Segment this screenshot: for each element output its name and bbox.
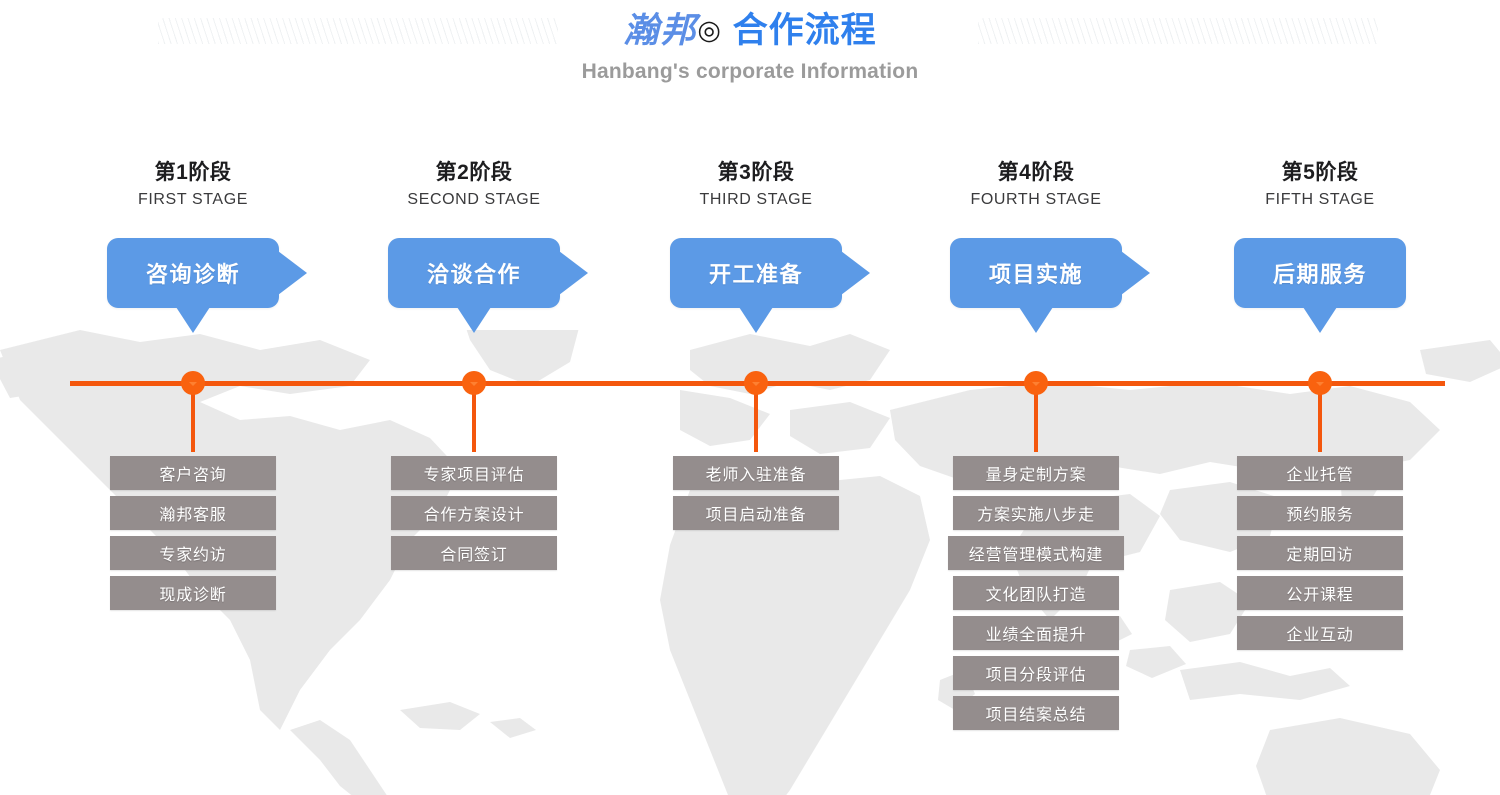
pointer-down-icon [176, 307, 210, 333]
node-inner-icon [1316, 382, 1324, 386]
node-inner-icon [752, 382, 760, 386]
stage-title-cn: 第5阶段 [1170, 160, 1470, 186]
stage-title-cn: 第4阶段 [886, 160, 1186, 186]
list-item-label: 合作方案设计 [424, 501, 525, 525]
list-item[interactable]: 预约服务 [1237, 496, 1403, 530]
list-item[interactable]: 经营管理模式构建 [948, 536, 1124, 570]
page-title-text: 合作流程 [733, 11, 877, 50]
node-inner-icon [470, 382, 478, 386]
stage-title-cn: 第3阶段 [606, 160, 906, 186]
list-item[interactable]: 专家项目评估 [391, 456, 557, 490]
stage-header-4: 第4阶段FOURTH STAGE [886, 160, 1186, 212]
stage-columns: 第1阶段FIRST STAGE咨询诊断客户咨询瀚邦客服专家约访现成诊断第2阶段S… [0, 0, 1500, 795]
arrow-right-icon [278, 251, 307, 295]
list-item-label: 预约服务 [1286, 501, 1353, 525]
timeline-node-3[interactable] [744, 371, 768, 395]
list-item[interactable]: 专家约访 [110, 536, 276, 570]
timeline-node-1[interactable] [181, 371, 205, 395]
pointer-down-icon [1019, 307, 1053, 333]
stage-title-en: FIRST STAGE [43, 188, 343, 212]
list-item-label: 文化团队打造 [986, 581, 1087, 605]
list-item-label: 业绩全面提升 [986, 621, 1087, 645]
stage-badge-label: 开工准备 [709, 257, 803, 289]
list-item[interactable]: 业绩全面提升 [953, 616, 1119, 650]
list-item-label: 现成诊断 [159, 581, 226, 605]
list-item[interactable]: 定期回访 [1237, 536, 1403, 570]
list-item-label: 老师入驻准备 [706, 461, 807, 485]
stage-item-list-2: 专家项目评估合作方案设计合同签订 [324, 456, 624, 576]
list-item[interactable]: 量身定制方案 [953, 456, 1119, 490]
stage-badge-wrap-5: 后期服务 [1170, 238, 1470, 308]
stage-item-list-3: 老师入驻准备项目启动准备 [606, 456, 906, 536]
stage-title-en: THIRD STAGE [606, 188, 906, 212]
list-item-label: 项目分段评估 [986, 661, 1087, 685]
list-item-label: 项目结案总结 [986, 701, 1087, 725]
brand-name: 瀚邦 [623, 10, 697, 51]
stage-badge-1[interactable]: 咨询诊断 [107, 238, 279, 308]
stage-badge-label: 咨询诊断 [146, 257, 240, 289]
list-item[interactable]: 合作方案设计 [391, 496, 557, 530]
timeline-node-2[interactable] [462, 371, 486, 395]
stage-header-5: 第5阶段FIFTH STAGE [1170, 160, 1470, 212]
page-header: 瀚邦◎ 合作流程 Hanbang's corporate Information [0, 0, 1500, 110]
stage-badge-label: 后期服务 [1273, 257, 1367, 289]
list-item[interactable]: 项目结案总结 [953, 696, 1119, 730]
page-subtitle: Hanbang's corporate Information [0, 60, 1500, 84]
stage-badge-4[interactable]: 项目实施 [950, 238, 1122, 308]
list-item-label: 企业互动 [1286, 621, 1353, 645]
list-item[interactable]: 企业互动 [1237, 616, 1403, 650]
stage-header-1: 第1阶段FIRST STAGE [43, 160, 343, 212]
stage-title-cn: 第2阶段 [324, 160, 624, 186]
arrow-right-icon [841, 251, 870, 295]
pointer-down-icon [457, 307, 491, 333]
list-item[interactable]: 项目分段评估 [953, 656, 1119, 690]
stage-badge-2[interactable]: 洽谈合作 [388, 238, 560, 308]
list-item[interactable]: 方案实施八步走 [953, 496, 1119, 530]
list-item[interactable]: 公开课程 [1237, 576, 1403, 610]
stage-title-en: FIFTH STAGE [1170, 188, 1470, 212]
stage-item-list-5: 企业托管预约服务定期回访公开课程企业互动 [1170, 456, 1470, 656]
page-title: 瀚邦◎ 合作流程 [0, 8, 1500, 53]
stage-badge-3[interactable]: 开工准备 [670, 238, 842, 308]
stage-badge-wrap-1: 咨询诊断 [43, 238, 343, 308]
arrow-right-icon [559, 251, 588, 295]
list-item-label: 方案实施八步走 [977, 501, 1095, 525]
list-item-label: 企业托管 [1286, 461, 1353, 485]
stage-badge-5[interactable]: 后期服务 [1234, 238, 1406, 308]
list-item[interactable]: 企业托管 [1237, 456, 1403, 490]
stage-title-cn: 第1阶段 [43, 160, 343, 186]
list-item[interactable]: 老师入驻准备 [673, 456, 839, 490]
registered-mark-icon: ◎ [697, 15, 722, 45]
stage-header-2: 第2阶段SECOND STAGE [324, 160, 624, 212]
list-item-label: 专家项目评估 [424, 461, 525, 485]
node-inner-icon [189, 382, 197, 386]
list-item-label: 瀚邦客服 [159, 501, 226, 525]
timeline-node-4[interactable] [1024, 371, 1048, 395]
pointer-down-icon [1303, 307, 1337, 333]
list-item-label: 客户咨询 [159, 461, 226, 485]
pointer-down-icon [739, 307, 773, 333]
list-item-label: 公开课程 [1286, 581, 1353, 605]
stage-badge-wrap-3: 开工准备 [606, 238, 906, 308]
list-item-label: 量身定制方案 [986, 461, 1087, 485]
list-item[interactable]: 瀚邦客服 [110, 496, 276, 530]
list-item-label: 项目启动准备 [706, 501, 807, 525]
stage-badge-label: 洽谈合作 [427, 257, 521, 289]
stage-title-en: SECOND STAGE [324, 188, 624, 212]
stage-item-list-1: 客户咨询瀚邦客服专家约访现成诊断 [43, 456, 343, 616]
list-item-label: 专家约访 [159, 541, 226, 565]
stage-title-en: FOURTH STAGE [886, 188, 1186, 212]
timeline-node-5[interactable] [1308, 371, 1332, 395]
list-item-label: 经营管理模式构建 [969, 541, 1103, 565]
list-item[interactable]: 合同签订 [391, 536, 557, 570]
list-item[interactable]: 现成诊断 [110, 576, 276, 610]
list-item-label: 定期回访 [1286, 541, 1353, 565]
list-item[interactable]: 客户咨询 [110, 456, 276, 490]
arrow-right-icon [1121, 251, 1150, 295]
stage-badge-label: 项目实施 [989, 257, 1083, 289]
node-inner-icon [1032, 382, 1040, 386]
list-item[interactable]: 文化团队打造 [953, 576, 1119, 610]
list-item-label: 合同签订 [440, 541, 507, 565]
stage-badge-wrap-4: 项目实施 [886, 238, 1186, 308]
stage-item-list-4: 量身定制方案方案实施八步走经营管理模式构建文化团队打造业绩全面提升项目分段评估项… [886, 456, 1186, 736]
stage-header-3: 第3阶段THIRD STAGE [606, 160, 906, 212]
list-item[interactable]: 项目启动准备 [673, 496, 839, 530]
stage-badge-wrap-2: 洽谈合作 [324, 238, 624, 308]
